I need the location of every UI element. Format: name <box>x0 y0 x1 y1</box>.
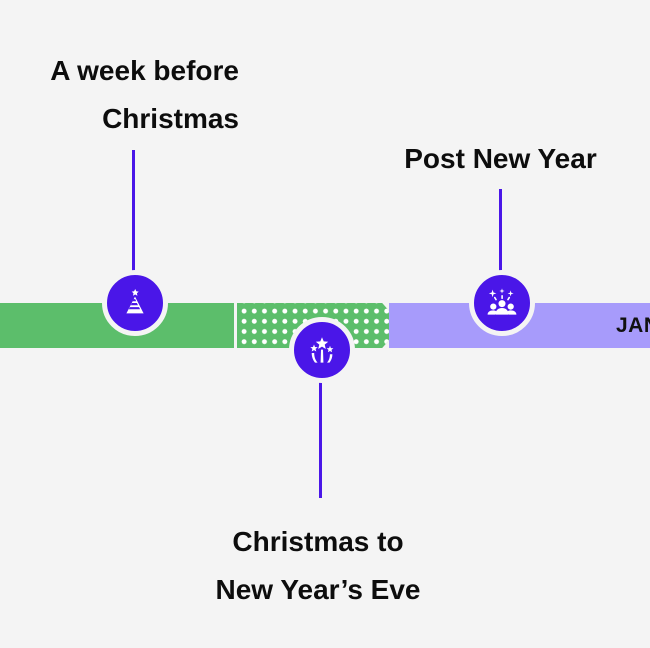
milestone-label-post-new-year: Post New Year <box>394 135 607 183</box>
milestone-label-a-week-before-christmas: A week before Christmas <box>30 47 239 143</box>
milestone-badge-christmas-to-new-years-eve[interactable] <box>289 317 355 383</box>
milestone-label-line: New Year’s Eve <box>207 566 429 614</box>
milestone-label-christmas-to-new-years-eve: Christmas to New Year’s Eve <box>207 518 429 614</box>
milestone-label-line: Post New Year <box>394 135 607 183</box>
connector-line-a-week-before-christmas <box>132 150 135 282</box>
fireworks-icon <box>306 334 338 366</box>
connector-line-post-new-year <box>499 189 502 281</box>
party-hat-icon <box>119 287 151 319</box>
timeline-month-label: JAN <box>616 303 650 348</box>
people-celebration-icon <box>485 286 519 320</box>
milestone-badge-a-week-before-christmas[interactable] <box>102 270 168 336</box>
connector-line-christmas-to-new-years-eve <box>319 368 322 498</box>
milestone-label-line: Christmas to <box>207 518 429 566</box>
milestone-label-line: Christmas <box>30 95 239 143</box>
milestone-label-line: A week before <box>30 47 239 95</box>
timeline-infographic: JAN <box>0 0 650 648</box>
milestone-badge-post-new-year[interactable] <box>469 270 535 336</box>
